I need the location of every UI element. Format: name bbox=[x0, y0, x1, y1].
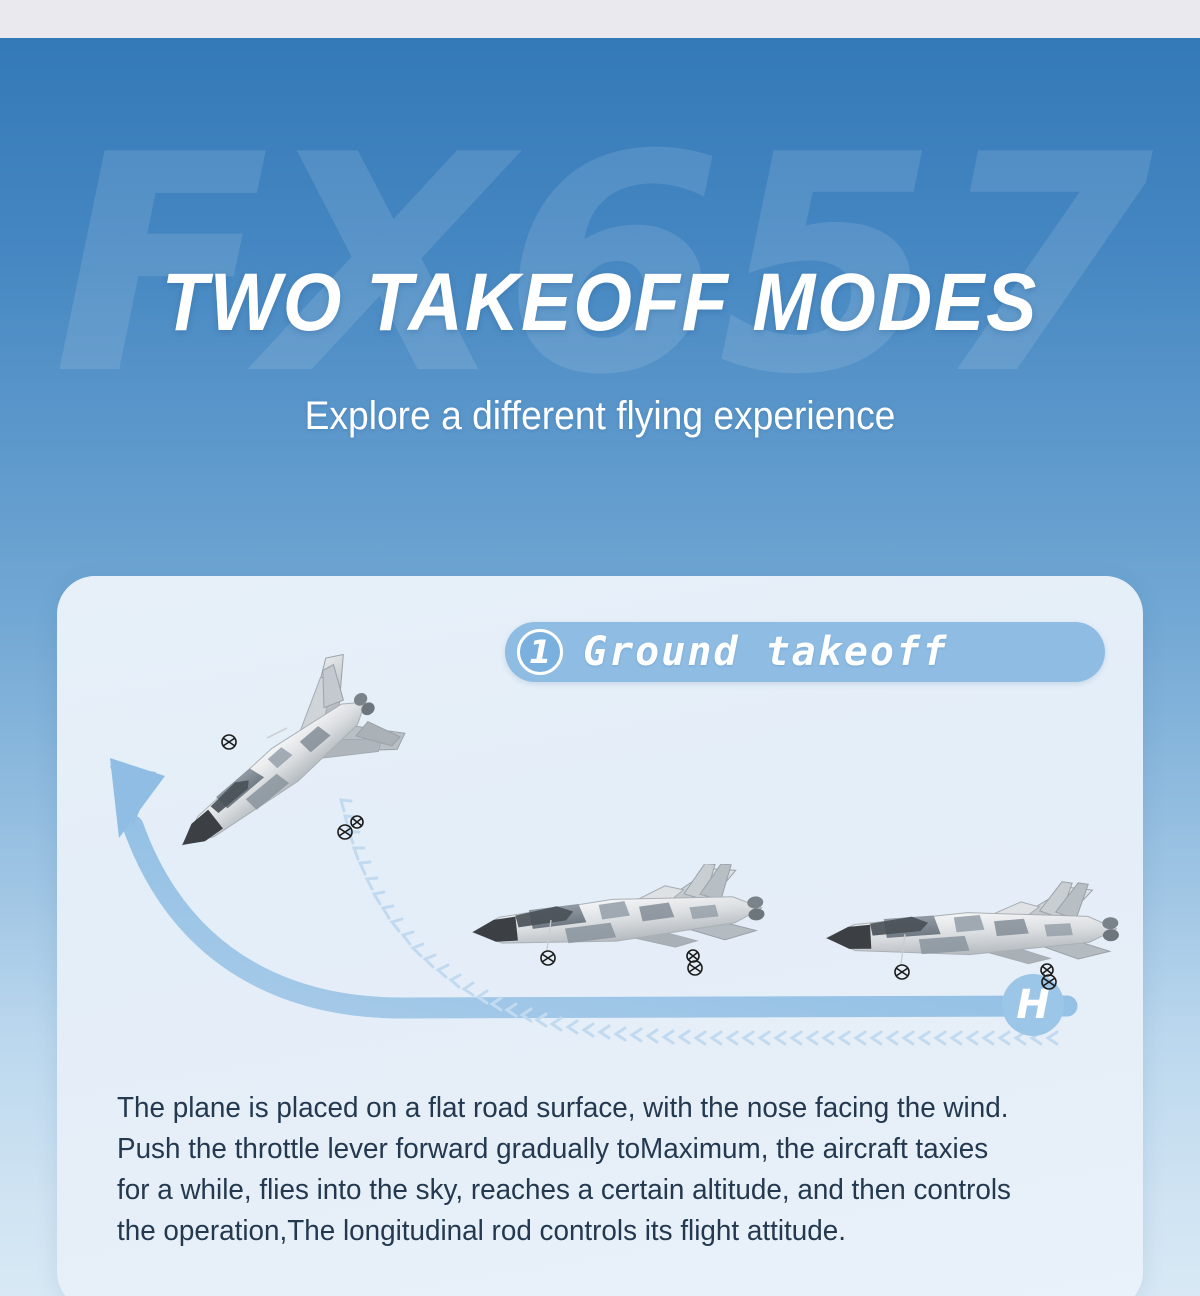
ground-takeoff-card: 1 Ground takeoff bbox=[57, 576, 1143, 1296]
propeller-marker bbox=[688, 961, 702, 975]
propeller-marker bbox=[687, 950, 699, 962]
climbing-jet bbox=[117, 646, 437, 896]
propeller-marker bbox=[541, 951, 555, 965]
propeller-marker bbox=[895, 965, 909, 979]
paragraph-line: for a while, flies into the sky, reaches… bbox=[117, 1170, 1058, 1211]
mid-climb-jet bbox=[455, 864, 799, 988]
propeller-marker bbox=[1042, 975, 1056, 989]
paragraph-line: The plane is placed on a flat road surfa… bbox=[117, 1088, 1058, 1129]
product-feature-page: FX657 TWO TAKEOFF MODES Explore a differ… bbox=[0, 0, 1200, 1296]
paragraph-line: the operation,The longitudinal rod contr… bbox=[117, 1211, 1058, 1252]
takeoff-illustration: H bbox=[57, 576, 1143, 1086]
paragraph-line: Push the throttle lever forward graduall… bbox=[117, 1129, 1058, 1170]
propeller-marker bbox=[1041, 964, 1053, 976]
page-title: TWO TAKEOFF MODES bbox=[48, 260, 1152, 346]
ground-roll-jet bbox=[809, 878, 1143, 1002]
hero-text-area: FX657 TWO TAKEOFF MODES Explore a differ… bbox=[0, 38, 1200, 538]
page-subtitle: Explore a different flying experience bbox=[42, 393, 1158, 439]
top-strip bbox=[0, 0, 1200, 38]
hero-section: FX657 TWO TAKEOFF MODES Explore a differ… bbox=[0, 38, 1200, 1296]
propeller-marker bbox=[338, 825, 352, 839]
propeller-marker bbox=[222, 735, 236, 749]
propeller-marker bbox=[351, 816, 363, 828]
description-paragraph: The plane is placed on a flat road surfa… bbox=[117, 1088, 1058, 1252]
